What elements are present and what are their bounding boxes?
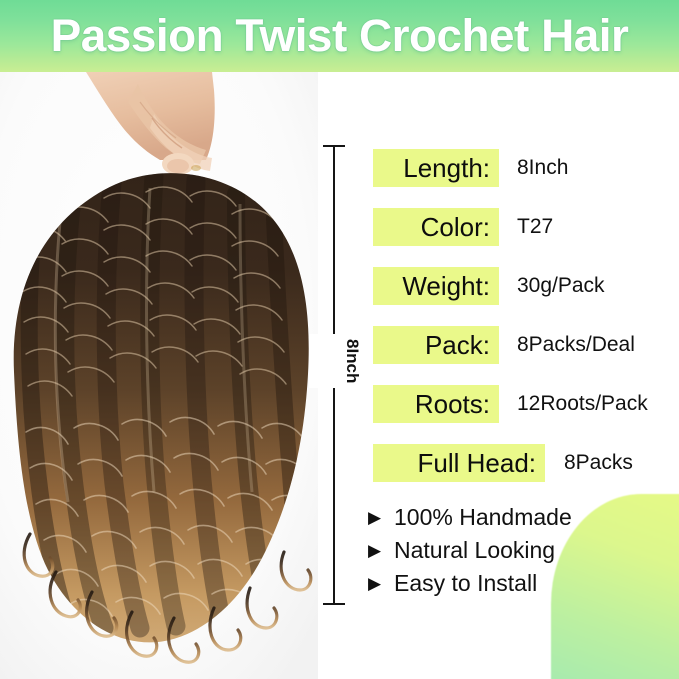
spec-row-length: Length: 8Inch xyxy=(368,146,679,205)
spec-row-roots: Roots: 12Roots/Pack xyxy=(368,382,679,441)
bracket-cap-bottom xyxy=(323,603,345,605)
spec-value-weight: 30g/Pack xyxy=(517,267,605,305)
spec-row-pack: Pack: 8Packs/Deal xyxy=(368,323,679,382)
spec-label-roots: Roots: xyxy=(373,385,499,423)
product-photo xyxy=(0,72,318,679)
spec-value-full-head: 8Packs xyxy=(564,444,633,482)
spec-value-color: T27 xyxy=(517,208,553,246)
spec-label-full-head: Full Head: xyxy=(373,444,545,482)
spec-label-pack: Pack: xyxy=(373,326,499,364)
spec-label-color: Color: xyxy=(373,208,499,246)
spec-label-weight: Weight: xyxy=(373,267,499,305)
feature-item-handmade: ▶100% Handmade xyxy=(368,500,668,533)
feature-item-natural-looking: ▶Natural Looking xyxy=(368,533,668,566)
feature-text-natural-looking: Natural Looking xyxy=(394,534,555,567)
page-title: Passion Twist Crochet Hair xyxy=(0,0,679,72)
spec-table: Length: 8Inch Color: T27 Weight: 30g/Pac… xyxy=(368,146,679,500)
measurement-bracket: 8Inch xyxy=(318,138,352,612)
triangle-bullet-icon: ▶ xyxy=(368,567,394,600)
spec-value-length: 8Inch xyxy=(517,149,568,187)
product-infographic: Passion Twist Crochet Hair xyxy=(0,0,679,679)
spec-row-full-head: Full Head: 8Packs xyxy=(368,441,679,500)
measurement-label: 8Inch xyxy=(309,334,361,388)
feature-item-easy-to-install: ▶Easy to Install xyxy=(368,566,668,599)
product-photo-illustration xyxy=(0,72,318,679)
triangle-bullet-icon: ▶ xyxy=(368,534,394,567)
triangle-bullet-icon: ▶ xyxy=(368,501,394,534)
measurement-label-text: 8Inch xyxy=(344,339,361,383)
header-banner: Passion Twist Crochet Hair xyxy=(0,0,679,72)
feature-list: ▶100% Handmade ▶Natural Looking ▶Easy to… xyxy=(368,500,668,599)
spec-row-weight: Weight: 30g/Pack xyxy=(368,264,679,323)
feature-text-easy-to-install: Easy to Install xyxy=(394,567,537,600)
spec-value-pack: 8Packs/Deal xyxy=(517,326,635,364)
spec-row-color: Color: T27 xyxy=(368,205,679,264)
spec-label-length: Length: xyxy=(373,149,499,187)
spec-value-roots: 12Roots/Pack xyxy=(517,385,648,423)
feature-text-handmade: 100% Handmade xyxy=(394,501,572,534)
